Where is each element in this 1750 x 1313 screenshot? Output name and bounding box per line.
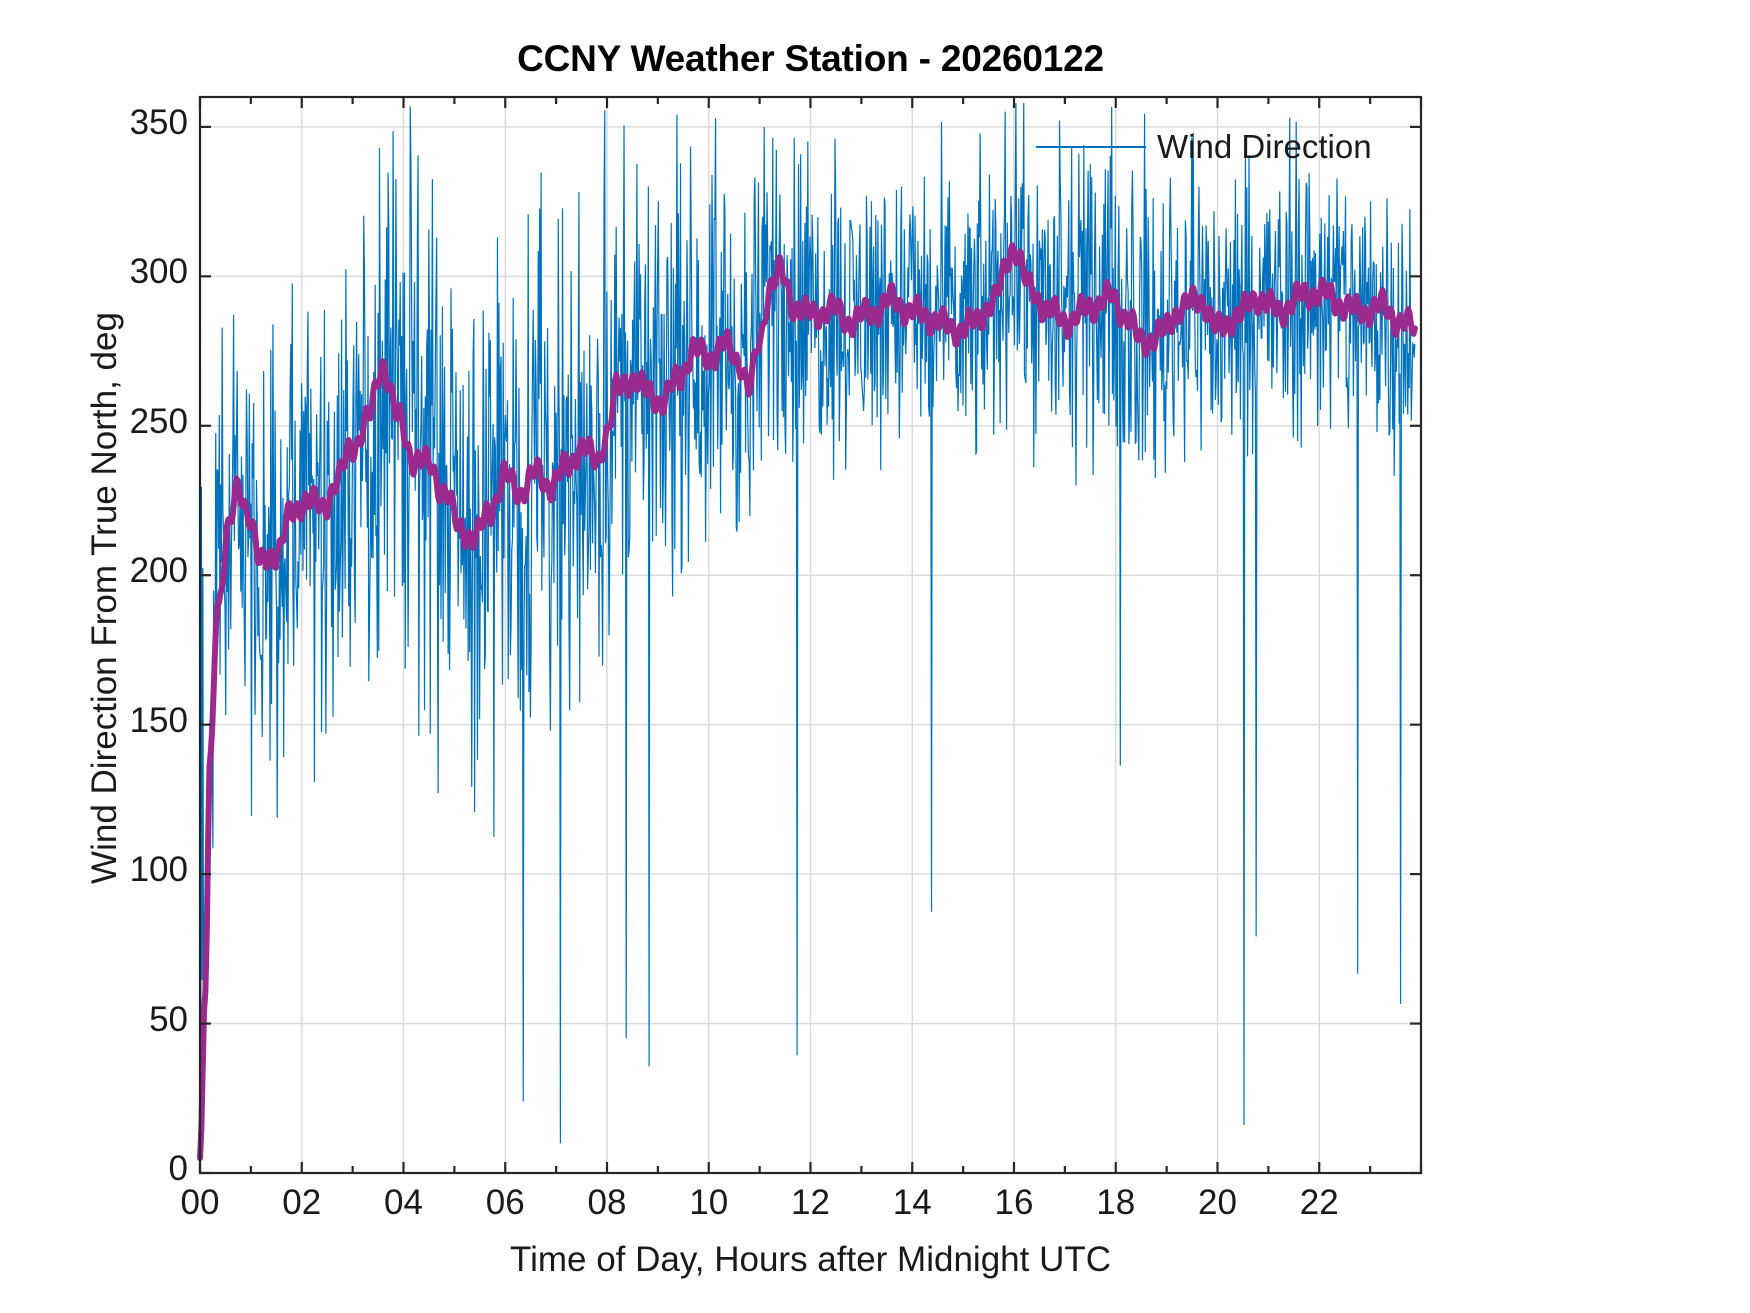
series-wind-direction-raw	[200, 103, 1415, 1143]
y-tick-label: 200	[130, 553, 188, 588]
x-tick-label: 02	[262, 1185, 342, 1220]
plot-area	[0, 0, 1750, 1313]
x-tick-label: 20	[1178, 1185, 1258, 1220]
y-axis-title: Wind Direction From True North, deg	[85, 238, 125, 958]
x-tick-label: 04	[364, 1185, 444, 1220]
x-axis-title: Time of Day, Hours after Midnight UTC	[200, 1240, 1421, 1280]
x-tick-label: 12	[771, 1185, 851, 1220]
y-tick-label: 250	[130, 404, 188, 439]
x-tick-label: 22	[1279, 1185, 1359, 1220]
y-tick-label: 0	[169, 1151, 188, 1186]
x-tick-label: 18	[1076, 1185, 1156, 1220]
x-tick-label: 10	[669, 1185, 749, 1220]
y-tick-label: 350	[130, 105, 188, 140]
x-tick-label: 06	[465, 1185, 545, 1220]
y-tick-label: 300	[130, 254, 188, 289]
y-tick-label: 50	[149, 1002, 188, 1037]
x-tick-label: 08	[567, 1185, 647, 1220]
legend-entry-label: Wind Direction	[1157, 128, 1372, 166]
x-tick-label: 14	[872, 1185, 952, 1220]
x-tick-label: 00	[160, 1185, 240, 1220]
x-tick-label: 16	[974, 1185, 1054, 1220]
y-tick-label: 100	[130, 852, 188, 887]
figure-canvas: CCNY Weather Station - 20260122 Wind Dir…	[0, 0, 1750, 1313]
y-tick-label: 150	[130, 703, 188, 738]
